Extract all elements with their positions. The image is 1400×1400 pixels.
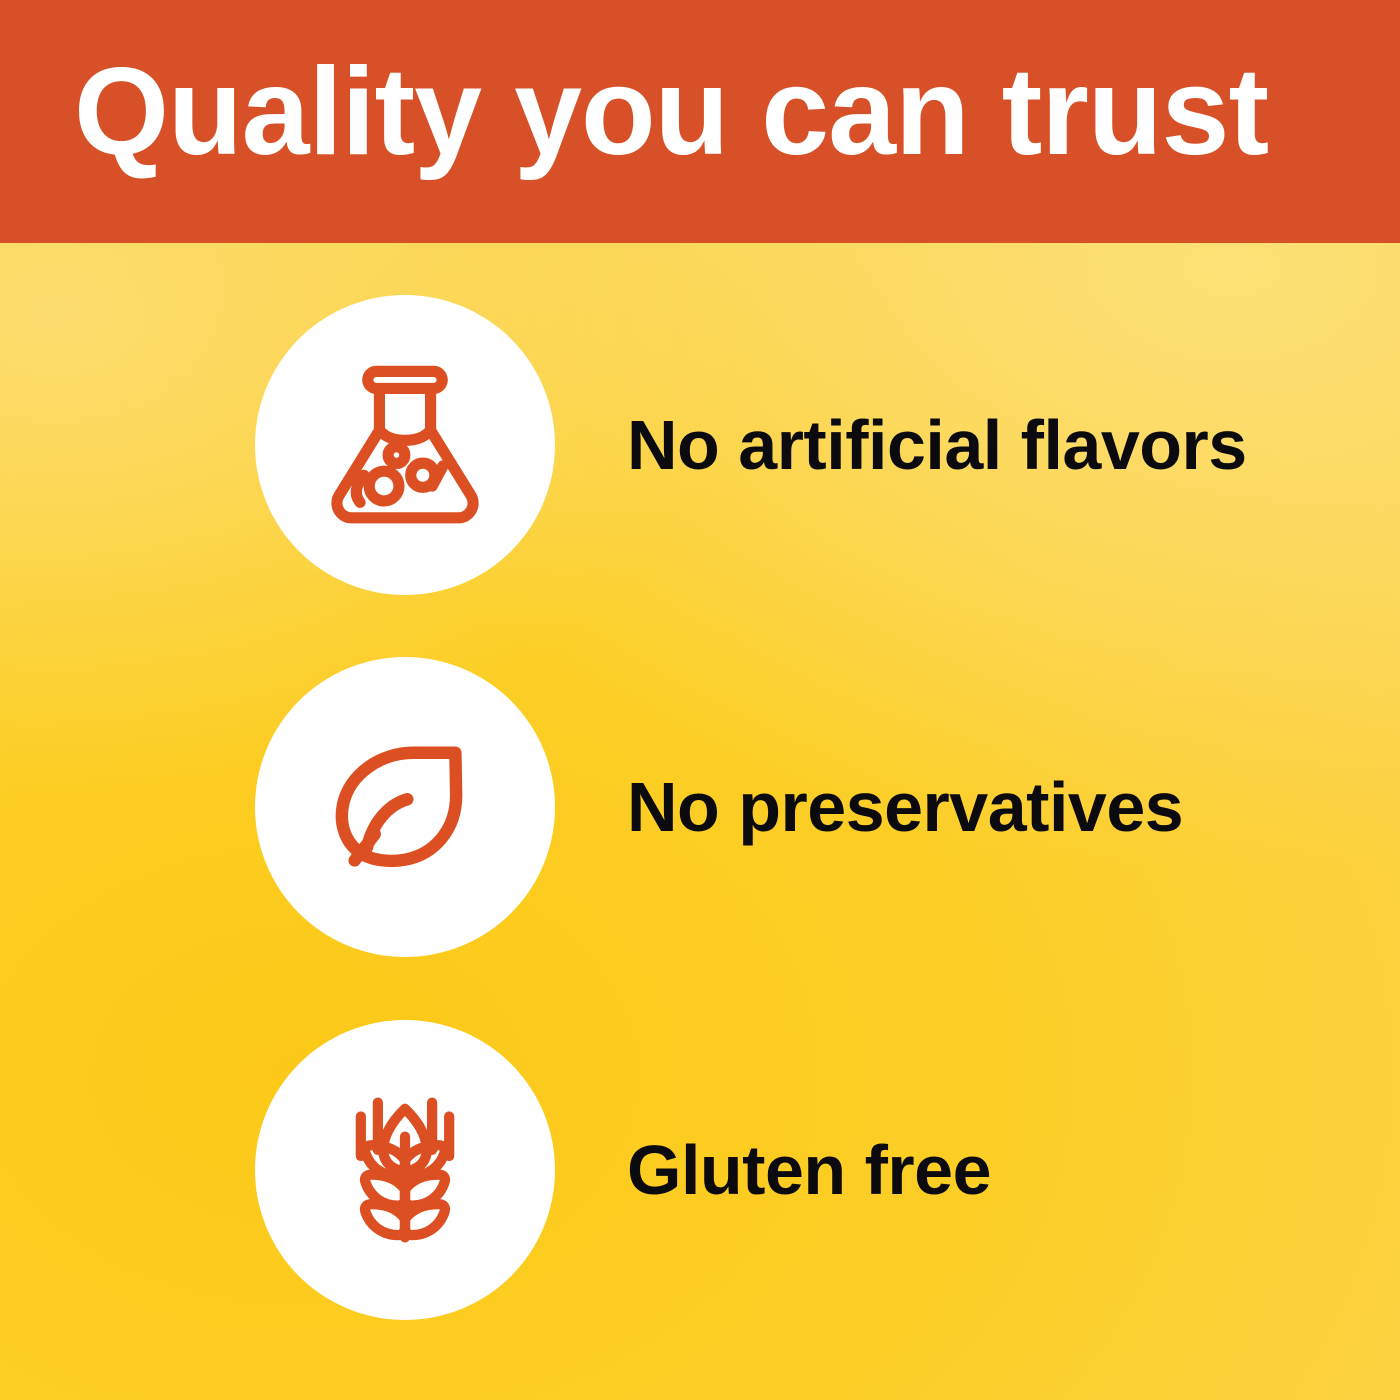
quality-claims-poster: Quality you can trust [0, 0, 1400, 1400]
feature-label-gluten-free: Gluten free [627, 1130, 991, 1210]
wheat-icon [312, 1077, 498, 1263]
feature-label-no-preservatives: No preservatives [627, 767, 1183, 847]
icon-badge-gluten-free [255, 1020, 555, 1320]
header-banner: Quality you can trust [0, 0, 1400, 243]
leaf-icon [312, 714, 498, 900]
feature-label-no-artificial-flavors: No artificial flavors [627, 405, 1247, 485]
page-title: Quality you can trust [74, 50, 1268, 174]
feature-row: No preservatives [0, 657, 1400, 957]
feature-row: No artificial flavors [0, 295, 1400, 595]
flask-icon [312, 352, 498, 538]
icon-badge-no-artificial-flavors [255, 295, 555, 595]
feature-row: Gluten free [0, 1020, 1400, 1320]
features-panel: No artificial flavors No preservatives [0, 243, 1400, 1400]
icon-badge-no-preservatives [255, 657, 555, 957]
